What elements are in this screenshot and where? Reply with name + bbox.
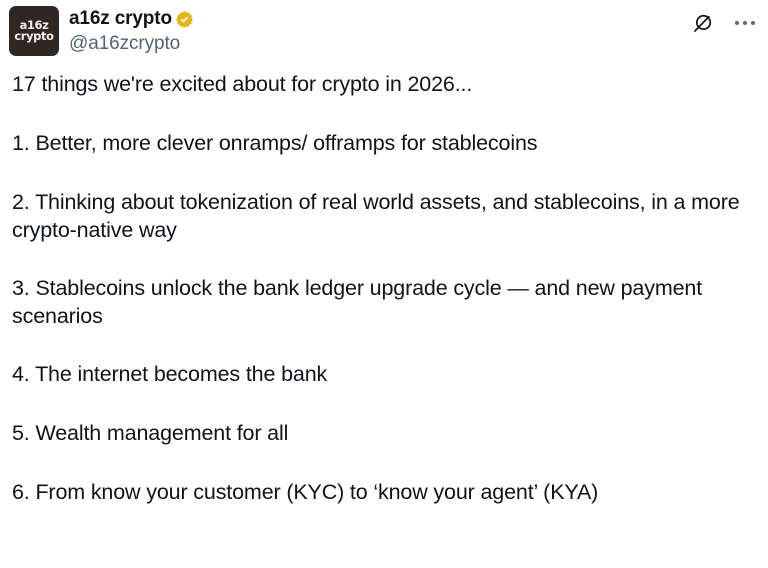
tweet-header: a16z crypto a16z crypto @a16zcrypto [0,0,768,62]
account-identity: a16z crypto @a16zcrypto [69,6,194,55]
tweet-text: 17 things we're excited about for crypto… [0,70,768,506]
more-dots-icon [735,21,755,25]
more-options-button[interactable] [730,8,760,38]
header-actions [688,8,760,38]
tweet-paragraph: 1. Better, more clever onramps/ offramps… [12,129,758,157]
tweet-paragraph: 6. From know your customer (KYC) to ‘kno… [12,478,758,506]
tweet-card: a16z crypto a16z crypto @a16zcrypto [0,0,768,568]
display-name[interactable]: a16z crypto [69,8,172,30]
more-dot [735,21,739,25]
avatar[interactable]: a16z crypto [9,6,59,56]
tweet-paragraph: 3. Stablecoins unlock the bank ledger up… [12,274,758,330]
verified-badge-icon [175,10,194,29]
grok-actions-button[interactable] [688,8,718,38]
grok-icon [692,12,714,34]
account-handle[interactable]: @a16zcrypto [69,32,194,55]
tweet-paragraph: 5. Wealth management for all [12,419,758,447]
tweet-paragraph: 4. The internet becomes the bank [12,360,758,388]
display-name-row: a16z crypto [69,7,194,31]
more-dot [743,21,747,25]
more-dot [751,21,755,25]
tweet-paragraph: 2. Thinking about tokenization of real w… [12,188,758,244]
tweet-paragraph: 17 things we're excited about for crypto… [12,70,758,98]
avatar-logo-line-2: crypto [14,31,53,42]
